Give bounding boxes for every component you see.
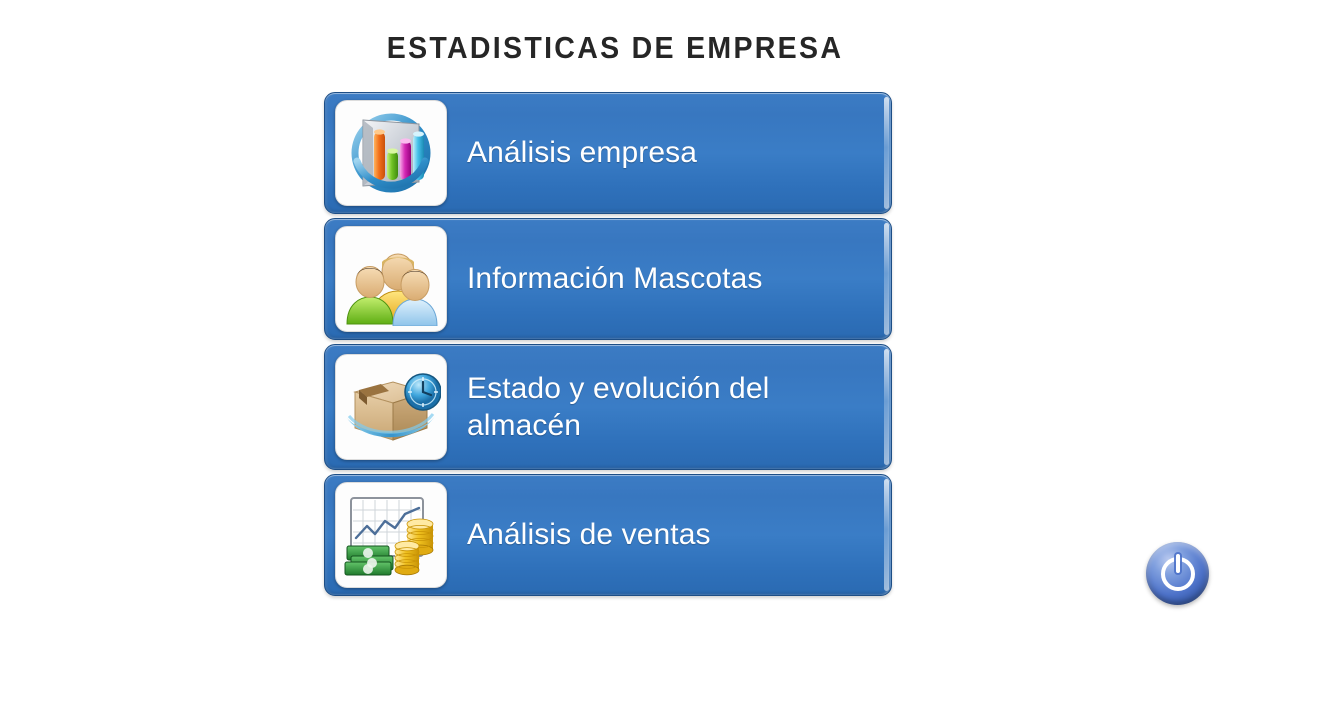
menu-button-label: Estado y evolución del almacén bbox=[467, 370, 891, 444]
main-menu: Análisis empresa bbox=[324, 92, 892, 600]
menu-button-analisis-ventas[interactable]: Análisis de ventas bbox=[324, 474, 892, 596]
menu-button-label: Análisis de ventas bbox=[467, 516, 891, 553]
power-icon bbox=[1161, 557, 1195, 591]
sales-money-chart-icon bbox=[335, 482, 447, 588]
bar-chart-icon bbox=[335, 100, 447, 206]
menu-button-label: Análisis empresa bbox=[467, 134, 891, 171]
button-content: Información Mascotas bbox=[325, 219, 891, 339]
box-clock-icon bbox=[335, 354, 447, 460]
menu-button-label: Información Mascotas bbox=[467, 260, 891, 297]
users-group-icon bbox=[335, 226, 447, 332]
menu-button-informacion-mascotas[interactable]: Información Mascotas bbox=[324, 218, 892, 340]
page-title: ESTADISTICAS DE EMPRESA bbox=[49, 30, 1181, 66]
power-exit-button[interactable] bbox=[1146, 542, 1209, 605]
menu-button-estado-evolucion-almacen[interactable]: Estado y evolución del almacén bbox=[324, 344, 892, 470]
button-content: Análisis de ventas bbox=[325, 475, 891, 595]
button-content: Análisis empresa bbox=[325, 93, 891, 213]
menu-button-analisis-empresa[interactable]: Análisis empresa bbox=[324, 92, 892, 214]
button-content: Estado y evolución del almacén bbox=[325, 345, 891, 469]
